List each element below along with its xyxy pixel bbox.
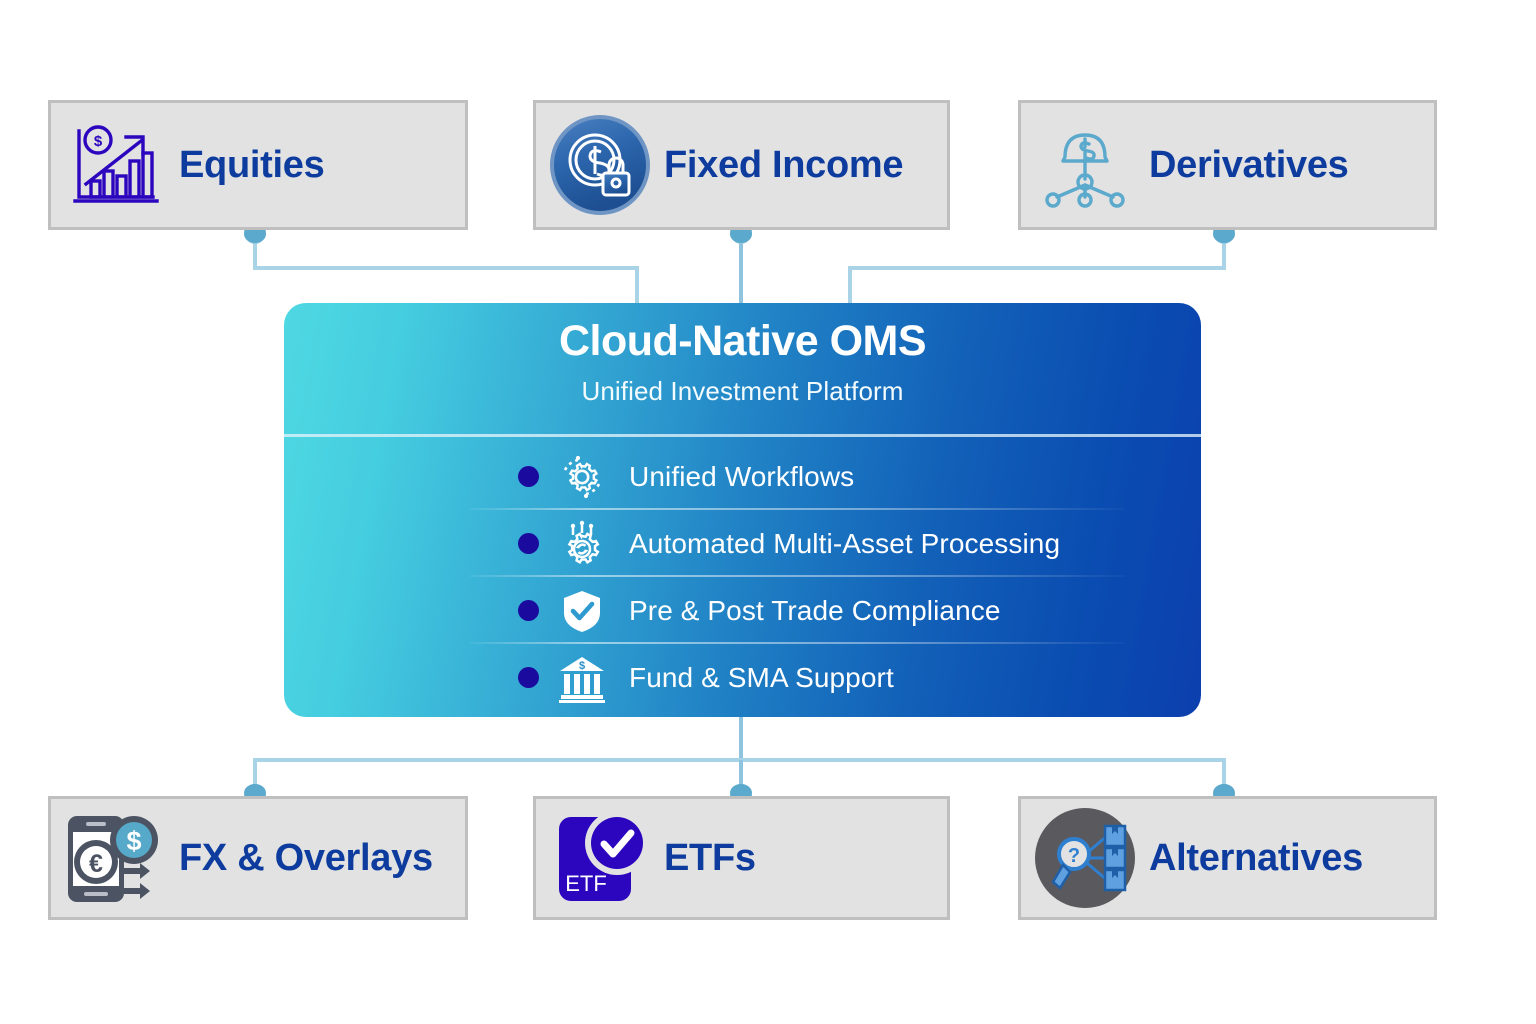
svg-text:$: $ xyxy=(126,826,141,856)
feature-label: Automated Multi-Asset Processing xyxy=(629,528,1060,560)
card-subtitle: Unified Investment Platform xyxy=(581,376,903,407)
asset-label-derivatives: Derivatives xyxy=(1149,144,1349,187)
asset-box-fixed-income[interactable]: Fixed Income xyxy=(533,100,950,230)
feature-label: Pre & Post Trade Compliance xyxy=(629,595,1001,627)
bank-dollar-icon: $ xyxy=(554,650,610,706)
etf-icon-text: ETF xyxy=(565,871,607,896)
asset-label-fixed-income: Fixed Income xyxy=(664,144,903,187)
asset-box-equities[interactable]: $ Equities xyxy=(48,100,468,230)
asset-label-alternatives: Alternatives xyxy=(1149,837,1363,880)
bell-dollar-network-icon xyxy=(1021,110,1149,220)
feature-row[interactable]: Automated Multi-Asset Processing xyxy=(284,510,1201,577)
diagram-canvas: $ Equities xyxy=(0,0,1536,1024)
gear-rotation-icon xyxy=(554,449,610,505)
etf-check-badge-icon: ETF xyxy=(536,803,664,913)
feature-list: Unified Workflows xyxy=(284,437,1201,711)
magnifier-boxes-circle-icon: ? xyxy=(1021,803,1149,913)
card-header: Cloud-Native OMS Unified Investment Plat… xyxy=(284,303,1201,434)
asset-label-etfs: ETFs xyxy=(664,837,756,880)
feature-label: Fund & SMA Support xyxy=(629,662,894,694)
asset-box-fx-overlays[interactable]: € $ FX & Overlays xyxy=(48,796,468,920)
gear-refresh-icon xyxy=(554,516,610,572)
oms-center-card: Cloud-Native OMS Unified Investment Plat… xyxy=(284,303,1201,717)
bullet-icon xyxy=(518,667,539,688)
bullet-icon xyxy=(518,466,539,487)
card-title: Cloud-Native OMS xyxy=(559,319,926,364)
coin-padlock-circle-icon xyxy=(536,110,664,220)
bullet-icon xyxy=(518,600,539,621)
feature-row[interactable]: Unified Workflows xyxy=(284,443,1201,510)
svg-text:$: $ xyxy=(94,133,103,150)
shield-check-icon xyxy=(554,583,610,639)
svg-text:$: $ xyxy=(579,660,585,672)
asset-box-etfs[interactable]: ETF ETFs xyxy=(533,796,950,920)
svg-text:?: ? xyxy=(1068,845,1080,867)
feature-row[interactable]: $ Fund & SMA Support xyxy=(284,644,1201,711)
bullet-icon xyxy=(518,533,539,554)
asset-label-equities: Equities xyxy=(179,144,324,187)
svg-text:€: € xyxy=(89,850,103,878)
feature-label: Unified Workflows xyxy=(629,461,854,493)
asset-label-fx-overlays: FX & Overlays xyxy=(179,837,433,880)
feature-row[interactable]: Pre & Post Trade Compliance xyxy=(284,577,1201,644)
bar-chart-growth-dollar-icon: $ xyxy=(51,110,179,220)
asset-box-alternatives[interactable]: ? Alternatives xyxy=(1018,796,1437,920)
phone-currency-exchange-icon: € $ xyxy=(51,803,179,913)
asset-box-derivatives[interactable]: Derivatives xyxy=(1018,100,1437,230)
